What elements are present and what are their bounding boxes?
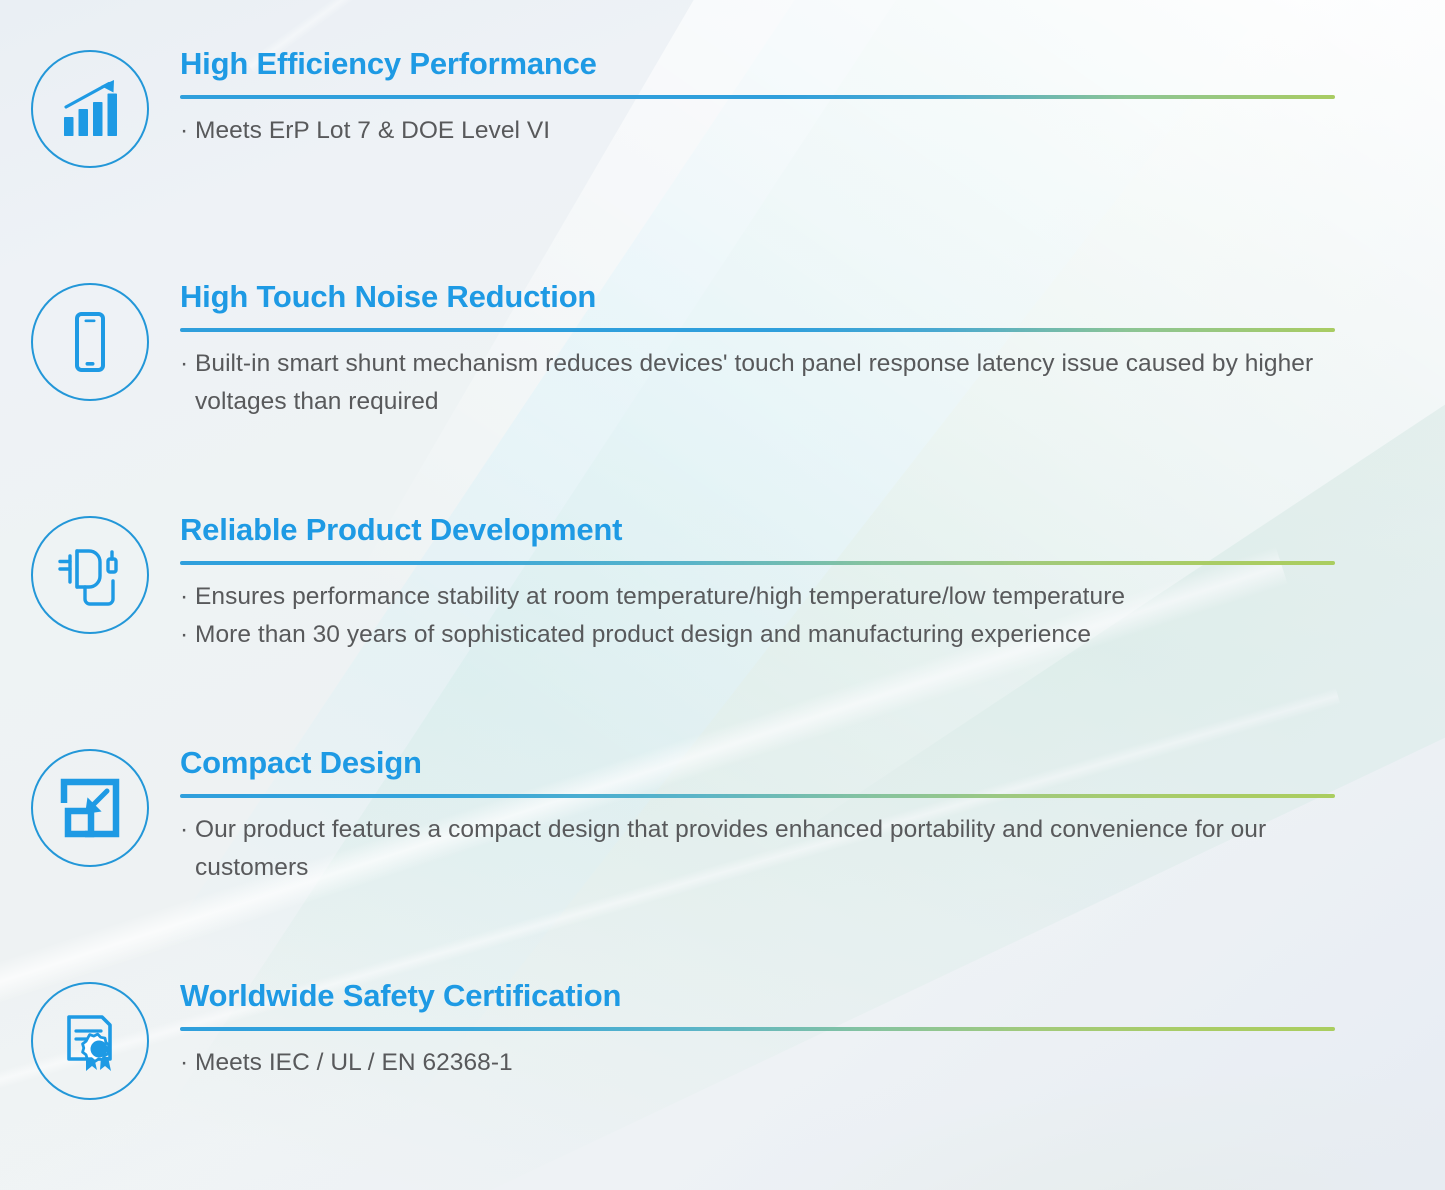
feature-divider (180, 794, 1335, 798)
feature-text-block: Worldwide Safety Certification · Meets I… (180, 980, 1445, 1082)
feature-title: Compact Design (180, 747, 1365, 780)
list-item: · Ensures performance stability at room … (180, 578, 1365, 616)
certificate-seal-icon (31, 982, 149, 1100)
feature-bullet-list: · Built-in smart shunt mechanism reduces… (180, 345, 1365, 421)
feature-title: Reliable Product Development (180, 514, 1365, 547)
bullet-text: Our product features a compact design th… (195, 811, 1365, 887)
feature-text-block: High Touch Noise Reduction · Built-in sm… (180, 281, 1445, 420)
bullet-marker: · (180, 811, 195, 849)
bullet-text: Meets ErP Lot 7 & DOE Level VI (195, 112, 1365, 150)
feature-highlights-page: High Efficiency Performance · Meets ErP … (0, 0, 1445, 1190)
list-item: · Meets IEC / UL / EN 62368-1 (180, 1044, 1365, 1082)
feature-item-high-touch-noise-reduction: High Touch Noise Reduction · Built-in sm… (0, 281, 1445, 420)
feature-divider (180, 95, 1335, 99)
feature-bullet-list: · Our product features a compact design … (180, 811, 1365, 887)
feature-text-block: Compact Design · Our product features a … (180, 747, 1445, 886)
feature-divider (180, 1027, 1335, 1031)
list-item: · Meets ErP Lot 7 & DOE Level VI (180, 112, 1365, 150)
bullet-marker: · (180, 345, 195, 383)
list-item: · More than 30 years of sophisticated pr… (180, 616, 1365, 654)
compact-resize-icon (31, 749, 149, 867)
feature-divider (180, 328, 1335, 332)
feature-icon-slot (0, 514, 180, 634)
feature-item-reliable-product-development: Reliable Product Development · Ensures p… (0, 514, 1445, 653)
bullet-text: Built-in smart shunt mechanism reduces d… (195, 345, 1365, 421)
feature-title: High Touch Noise Reduction (180, 281, 1365, 314)
smartphone-icon (31, 283, 149, 401)
bullet-marker: · (180, 578, 195, 616)
list-item: · Our product features a compact design … (180, 811, 1365, 887)
list-item: · Built-in smart shunt mechanism reduces… (180, 345, 1365, 421)
power-adapter-icon (31, 516, 149, 634)
bar-chart-growth-icon (31, 50, 149, 168)
feature-divider (180, 561, 1335, 565)
feature-title: Worldwide Safety Certification (180, 980, 1365, 1013)
feature-bullet-list: · Ensures performance stability at room … (180, 578, 1365, 654)
feature-list: High Efficiency Performance · Meets ErP … (0, 0, 1445, 1190)
feature-item-worldwide-safety-certification: Worldwide Safety Certification · Meets I… (0, 980, 1445, 1100)
bullet-text: Meets IEC / UL / EN 62368-1 (195, 1044, 1365, 1082)
feature-text-block: Reliable Product Development · Ensures p… (180, 514, 1445, 653)
feature-item-compact-design: Compact Design · Our product features a … (0, 747, 1445, 886)
feature-item-high-efficiency-performance: High Efficiency Performance · Meets ErP … (0, 48, 1445, 168)
feature-icon-slot (0, 281, 180, 401)
feature-bullet-list: · Meets IEC / UL / EN 62368-1 (180, 1044, 1365, 1082)
bullet-marker: · (180, 112, 195, 150)
feature-bullet-list: · Meets ErP Lot 7 & DOE Level VI (180, 112, 1365, 150)
bullet-marker: · (180, 616, 195, 654)
feature-icon-slot (0, 980, 180, 1100)
bullet-text: Ensures performance stability at room te… (195, 578, 1365, 616)
bullet-text: More than 30 years of sophisticated prod… (195, 616, 1365, 654)
feature-icon-slot (0, 747, 180, 867)
feature-text-block: High Efficiency Performance · Meets ErP … (180, 48, 1445, 150)
bullet-marker: · (180, 1044, 195, 1082)
feature-icon-slot (0, 48, 180, 168)
feature-title: High Efficiency Performance (180, 48, 1365, 81)
